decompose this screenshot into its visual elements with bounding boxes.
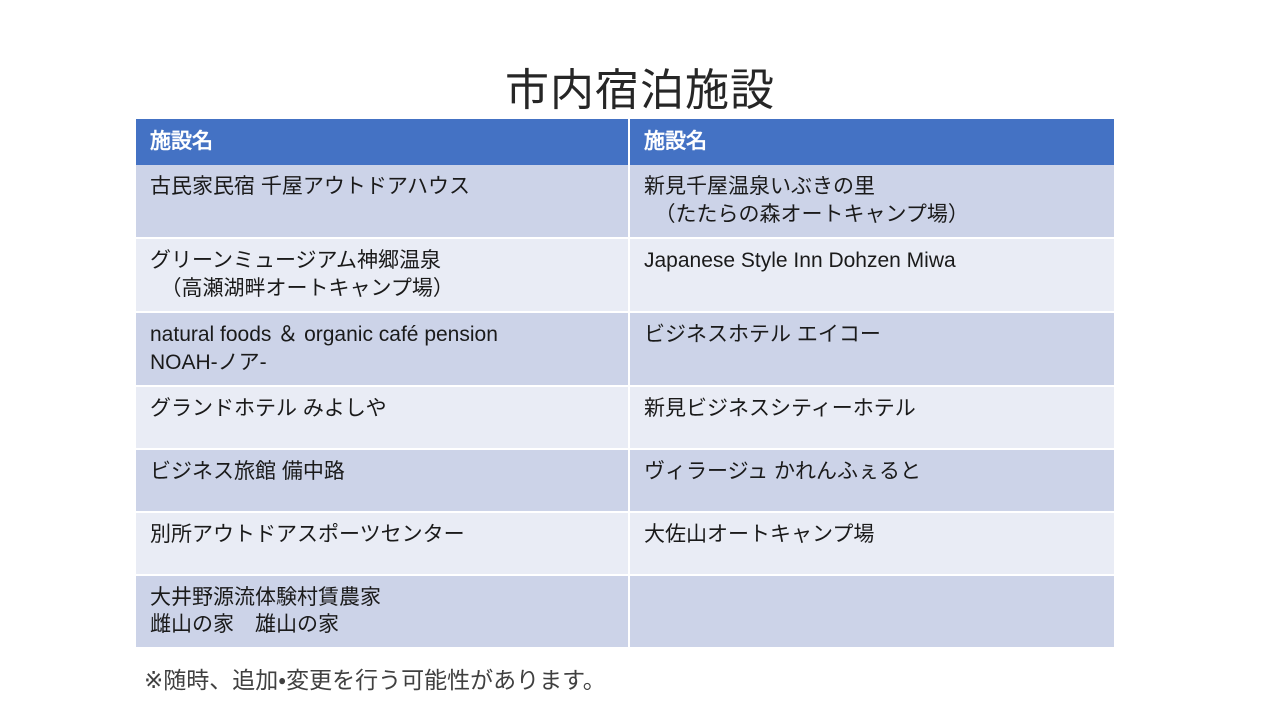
table-cell-facility-right: 新見千屋温泉いぶきの里 （たたらの森オートキャンプ場） [628,165,1114,237]
table-cell-facility-right: Japanese Style Inn Dohzen Miwa [628,237,1114,311]
facility-table: 施設名 施設名 古民家民宿 千屋アウトドアハウス 新見千屋温泉いぶきの里 （たた… [136,119,1114,647]
table-cell-facility-left: 別所アウトドアスポーツセンター [136,511,628,574]
cell-line-1: 新見千屋温泉いぶきの里 [644,173,1114,201]
column-header-facility-name-left: 施設名 [136,119,628,165]
table-cell-facility-left: 古民家民宿 千屋アウトドアハウス [136,165,628,237]
footnote-text: ※随時、追加・変更を行う可能性があります。 [144,666,606,696]
table-row: グランドホテル みよしや 新見ビジネスシティーホテル [136,385,1114,448]
cell-line-1: 新見ビジネスシティーホテル [644,395,1114,423]
table-cell-facility-right: ヴィラージュ かれんふぇると [628,448,1114,511]
cell-line-1: ヴィラージュ かれんふぇると [644,458,1114,486]
table-row: 大井野源流体験村賃農家 雌山の家 雄山の家 [136,574,1114,648]
table-row: ビジネス旅館 備中路 ヴィラージュ かれんふぇると [136,448,1114,511]
table-cell-facility-right: 新見ビジネスシティーホテル [628,385,1114,448]
cell-line-1: 大井野源流体験村賃農家 [150,584,628,612]
column-header-facility-name-right: 施設名 [628,119,1114,165]
table-header: 施設名 施設名 [136,119,1114,165]
table-cell-facility-right [628,574,1114,648]
table-row: natural foods ＆ organic café pension NOA… [136,311,1114,385]
cell-line-1: 大佐山オートキャンプ場 [644,521,1114,549]
cell-line-2: （高瀬湖畔オートキャンプ場） [150,275,628,303]
cell-line-1: 別所アウトドアスポーツセンター [150,521,628,549]
cell-line-2: 雌山の家 雄山の家 [150,611,628,639]
cell-line-1: ビジネス旅館 備中路 [150,458,628,486]
cell-line-2: NOAH-ノア- [150,349,628,377]
table-header-row: 施設名 施設名 [136,119,1114,165]
table-cell-facility-right: ビジネスホテル エイコー [628,311,1114,385]
page-title: 市内宿泊施設 [0,67,1280,115]
table-row: グリーンミュージアム神郷温泉 （高瀬湖畔オートキャンプ場） Japanese S… [136,237,1114,311]
cell-line-1: natural foods ＆ organic café pension [150,321,628,349]
table-cell-facility-left: 大井野源流体験村賃農家 雌山の家 雄山の家 [136,574,628,648]
cell-line-1: Japanese Style Inn Dohzen Miwa [644,247,1114,275]
table-cell-facility-right: 大佐山オートキャンプ場 [628,511,1114,574]
table-row: 古民家民宿 千屋アウトドアハウス 新見千屋温泉いぶきの里 （たたらの森オートキャ… [136,165,1114,237]
cell-line-1: グランドホテル みよしや [150,395,628,423]
cell-line-1: ビジネスホテル エイコー [644,321,1114,349]
table-cell-facility-left: natural foods ＆ organic café pension NOA… [136,311,628,385]
table-cell-facility-left: グリーンミュージアム神郷温泉 （高瀬湖畔オートキャンプ場） [136,237,628,311]
cell-line-2: （たたらの森オートキャンプ場） [644,201,1114,229]
table-body: 古民家民宿 千屋アウトドアハウス 新見千屋温泉いぶきの里 （たたらの森オートキャ… [136,165,1114,647]
table-row: 別所アウトドアスポーツセンター 大佐山オートキャンプ場 [136,511,1114,574]
cell-line-1: グリーンミュージアム神郷温泉 [150,247,628,275]
cell-line-1: 古民家民宿 千屋アウトドアハウス [150,173,628,201]
table-cell-facility-left: ビジネス旅館 備中路 [136,448,628,511]
table-cell-facility-left: グランドホテル みよしや [136,385,628,448]
